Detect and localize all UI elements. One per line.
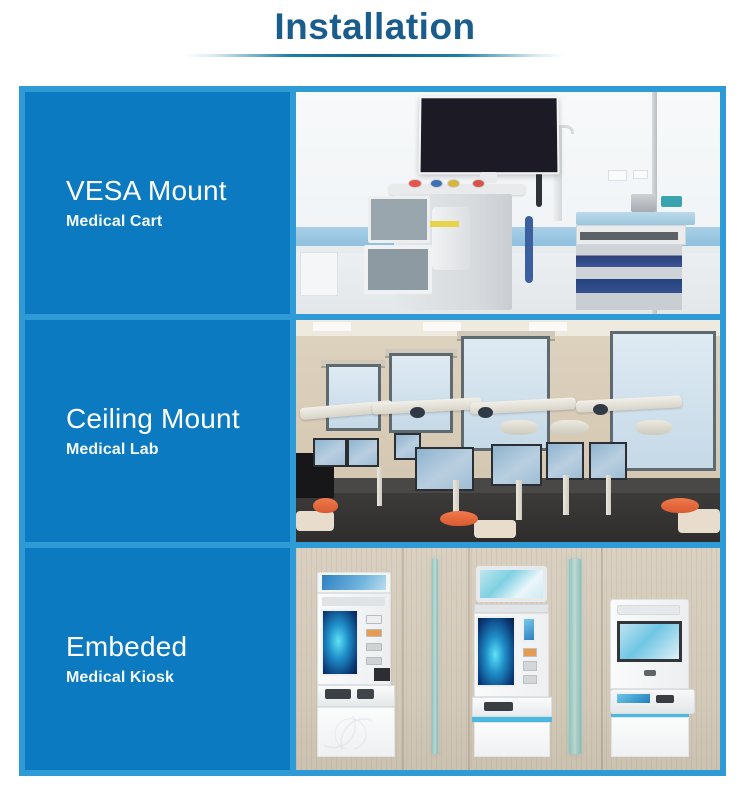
warning-label	[430, 221, 460, 227]
kiosk-dispenser-slot	[366, 643, 383, 651]
lab-monitor	[546, 442, 584, 480]
monitor-stand	[606, 475, 612, 515]
title-divider	[185, 54, 565, 57]
kiosk-pedestal	[611, 717, 689, 756]
kiosk-card-reader	[366, 615, 383, 623]
kiosk-dispenser-slot	[523, 675, 537, 685]
gas-knob-red	[408, 179, 421, 188]
kiosk-button-group	[363, 613, 387, 676]
patient-monitor-upper	[368, 196, 429, 243]
installation-row-ceiling-mount: Ceiling Mount Medical Lab	[25, 320, 720, 542]
side-cabinet	[300, 252, 338, 296]
installation-row-vesa-mount: VESA Mount Medical Cart	[25, 92, 720, 314]
endoscopy-tower	[576, 245, 682, 309]
monitor-stand	[377, 467, 383, 507]
card-title: Embeded	[66, 631, 290, 663]
kiosk-banner-display	[322, 575, 386, 590]
vesa-mounted-display	[418, 97, 559, 175]
card-subtitle: Medical Kiosk	[66, 668, 290, 687]
training-mannequin-body	[296, 511, 334, 531]
photo-medical-lab	[296, 320, 720, 542]
kiosk-highlight-button	[523, 648, 537, 658]
kiosk-touchscreen	[476, 616, 517, 687]
surgical-lamp	[550, 420, 588, 436]
kiosk-dual-screen	[472, 566, 561, 757]
training-mannequin-head	[440, 511, 478, 527]
kiosk-pedestal	[474, 722, 551, 756]
ceiling-light	[423, 322, 461, 331]
teal-device	[661, 196, 682, 207]
glass-divider	[432, 559, 438, 754]
caption-panel-ceiling-mount: Ceiling Mount Medical Lab	[25, 320, 290, 542]
training-mannequin-body	[474, 520, 516, 538]
kiosk-top-vent	[617, 605, 680, 614]
lab-monitor	[347, 438, 379, 467]
kiosk-receipt-slot	[656, 695, 675, 703]
wall-panel-seam	[402, 548, 404, 770]
lab-window	[389, 353, 453, 433]
ceiling-light	[529, 322, 567, 331]
lab-window	[326, 364, 381, 431]
monitor-stand	[563, 475, 569, 515]
camera-lens	[410, 407, 425, 418]
installation-grid: VESA Mount Medical Cart	[19, 86, 726, 776]
shelf-shadow	[580, 232, 678, 240]
equipment-tray	[576, 212, 695, 225]
installation-row-embedded: Embeded Medical Kiosk	[25, 548, 720, 770]
card-subtitle: Medical Cart	[66, 212, 290, 231]
metal-canister	[631, 194, 656, 212]
kiosk-decal-pattern	[324, 716, 372, 749]
wall-panel-seam	[468, 548, 470, 770]
kiosk-signature-pad	[615, 692, 652, 705]
photo-medical-cart	[296, 92, 720, 314]
kiosk-dispenser-slot	[644, 670, 656, 676]
kiosk-touchscreen	[321, 609, 359, 675]
vaporizer-cylinder	[432, 207, 470, 269]
training-mannequin-head	[661, 498, 699, 514]
photo-medical-kiosk	[296, 548, 720, 770]
card-title: Ceiling Mount	[66, 403, 290, 435]
page-title: Installation	[0, 6, 750, 48]
camera-lens	[593, 404, 608, 415]
caption-panel-embedded: Embeded Medical Kiosk	[25, 548, 290, 770]
kiosk-receipt-slot	[484, 702, 512, 711]
kiosk-upper-display	[476, 566, 547, 602]
card-subtitle: Medical Lab	[66, 440, 290, 459]
kiosk-tall	[317, 572, 398, 756]
kiosk-keypad	[374, 668, 390, 681]
gas-knob-red-2	[472, 179, 485, 188]
monitor-stand	[516, 480, 522, 520]
kiosk-dispenser-slot	[366, 657, 383, 665]
kiosk-dispenser-slot	[523, 661, 537, 671]
installation-page: Installation VESA Mount Medical Cart	[0, 0, 750, 794]
glass-divider	[569, 559, 581, 754]
lab-monitor	[415, 447, 474, 491]
kiosk-compact	[610, 599, 695, 757]
ceiling-light	[313, 322, 351, 331]
gas-knob-yellow	[447, 179, 460, 188]
surgical-lamp	[635, 420, 673, 436]
camera-lens	[478, 407, 493, 418]
patient-monitor-lower	[364, 245, 432, 294]
card-title: VESA Mount	[66, 175, 290, 207]
kiosk-brand-strip	[474, 604, 549, 613]
kiosk-cash-slot	[357, 689, 373, 698]
breathing-hose	[525, 216, 533, 283]
kiosk-touchscreen	[617, 621, 681, 662]
caption-panel-vesa-mount: VESA Mount Medical Cart	[25, 92, 290, 314]
page-header: Installation	[0, 0, 750, 72]
training-mannequin-head	[313, 498, 338, 514]
gas-knob-blue	[430, 179, 443, 188]
lab-monitor	[589, 442, 627, 480]
kiosk-receipt-slot	[325, 689, 351, 698]
kiosk-pin-display	[522, 617, 536, 642]
wall-panel-seam	[601, 548, 603, 770]
lab-monitor	[313, 438, 347, 467]
wall-outlet	[633, 170, 648, 179]
wall-switch	[608, 170, 627, 181]
surgical-lamp	[500, 420, 538, 436]
kiosk-brand-strip	[322, 597, 385, 605]
kiosk-highlight-button	[366, 629, 383, 637]
